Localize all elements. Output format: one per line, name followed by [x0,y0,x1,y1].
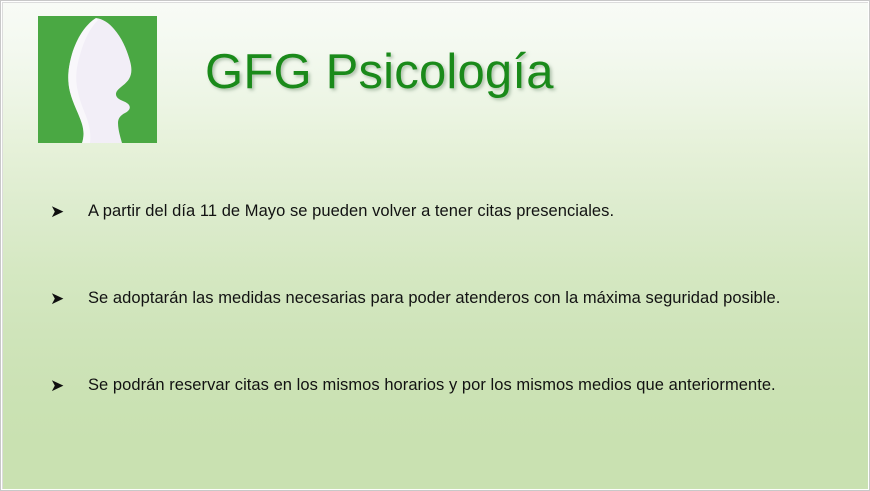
list-item-text: Se podrán reservar citas en los mismos h… [88,374,850,396]
list-item-text: A partir del día 11 de Mayo se pueden vo… [88,200,850,222]
presentation-slide: GFG Psicología ➤ A partir del día 11 de … [0,0,870,491]
arrow-bullet-icon: ➤ [50,375,88,397]
list-item: ➤ Se podrán reservar citas en los mismos… [50,374,850,461]
head-profile-logo [38,16,157,143]
arrow-bullet-icon: ➤ [50,201,88,223]
list-item: ➤ Se adoptarán las medidas necesarias pa… [50,287,850,374]
bullet-list: ➤ A partir del día 11 de Mayo se pueden … [50,200,850,461]
arrow-bullet-icon: ➤ [50,288,88,310]
list-item-text: Se adoptarán las medidas necesarias para… [88,287,850,309]
list-item: ➤ A partir del día 11 de Mayo se pueden … [50,200,850,287]
page-title: GFG Psicología [205,44,554,100]
